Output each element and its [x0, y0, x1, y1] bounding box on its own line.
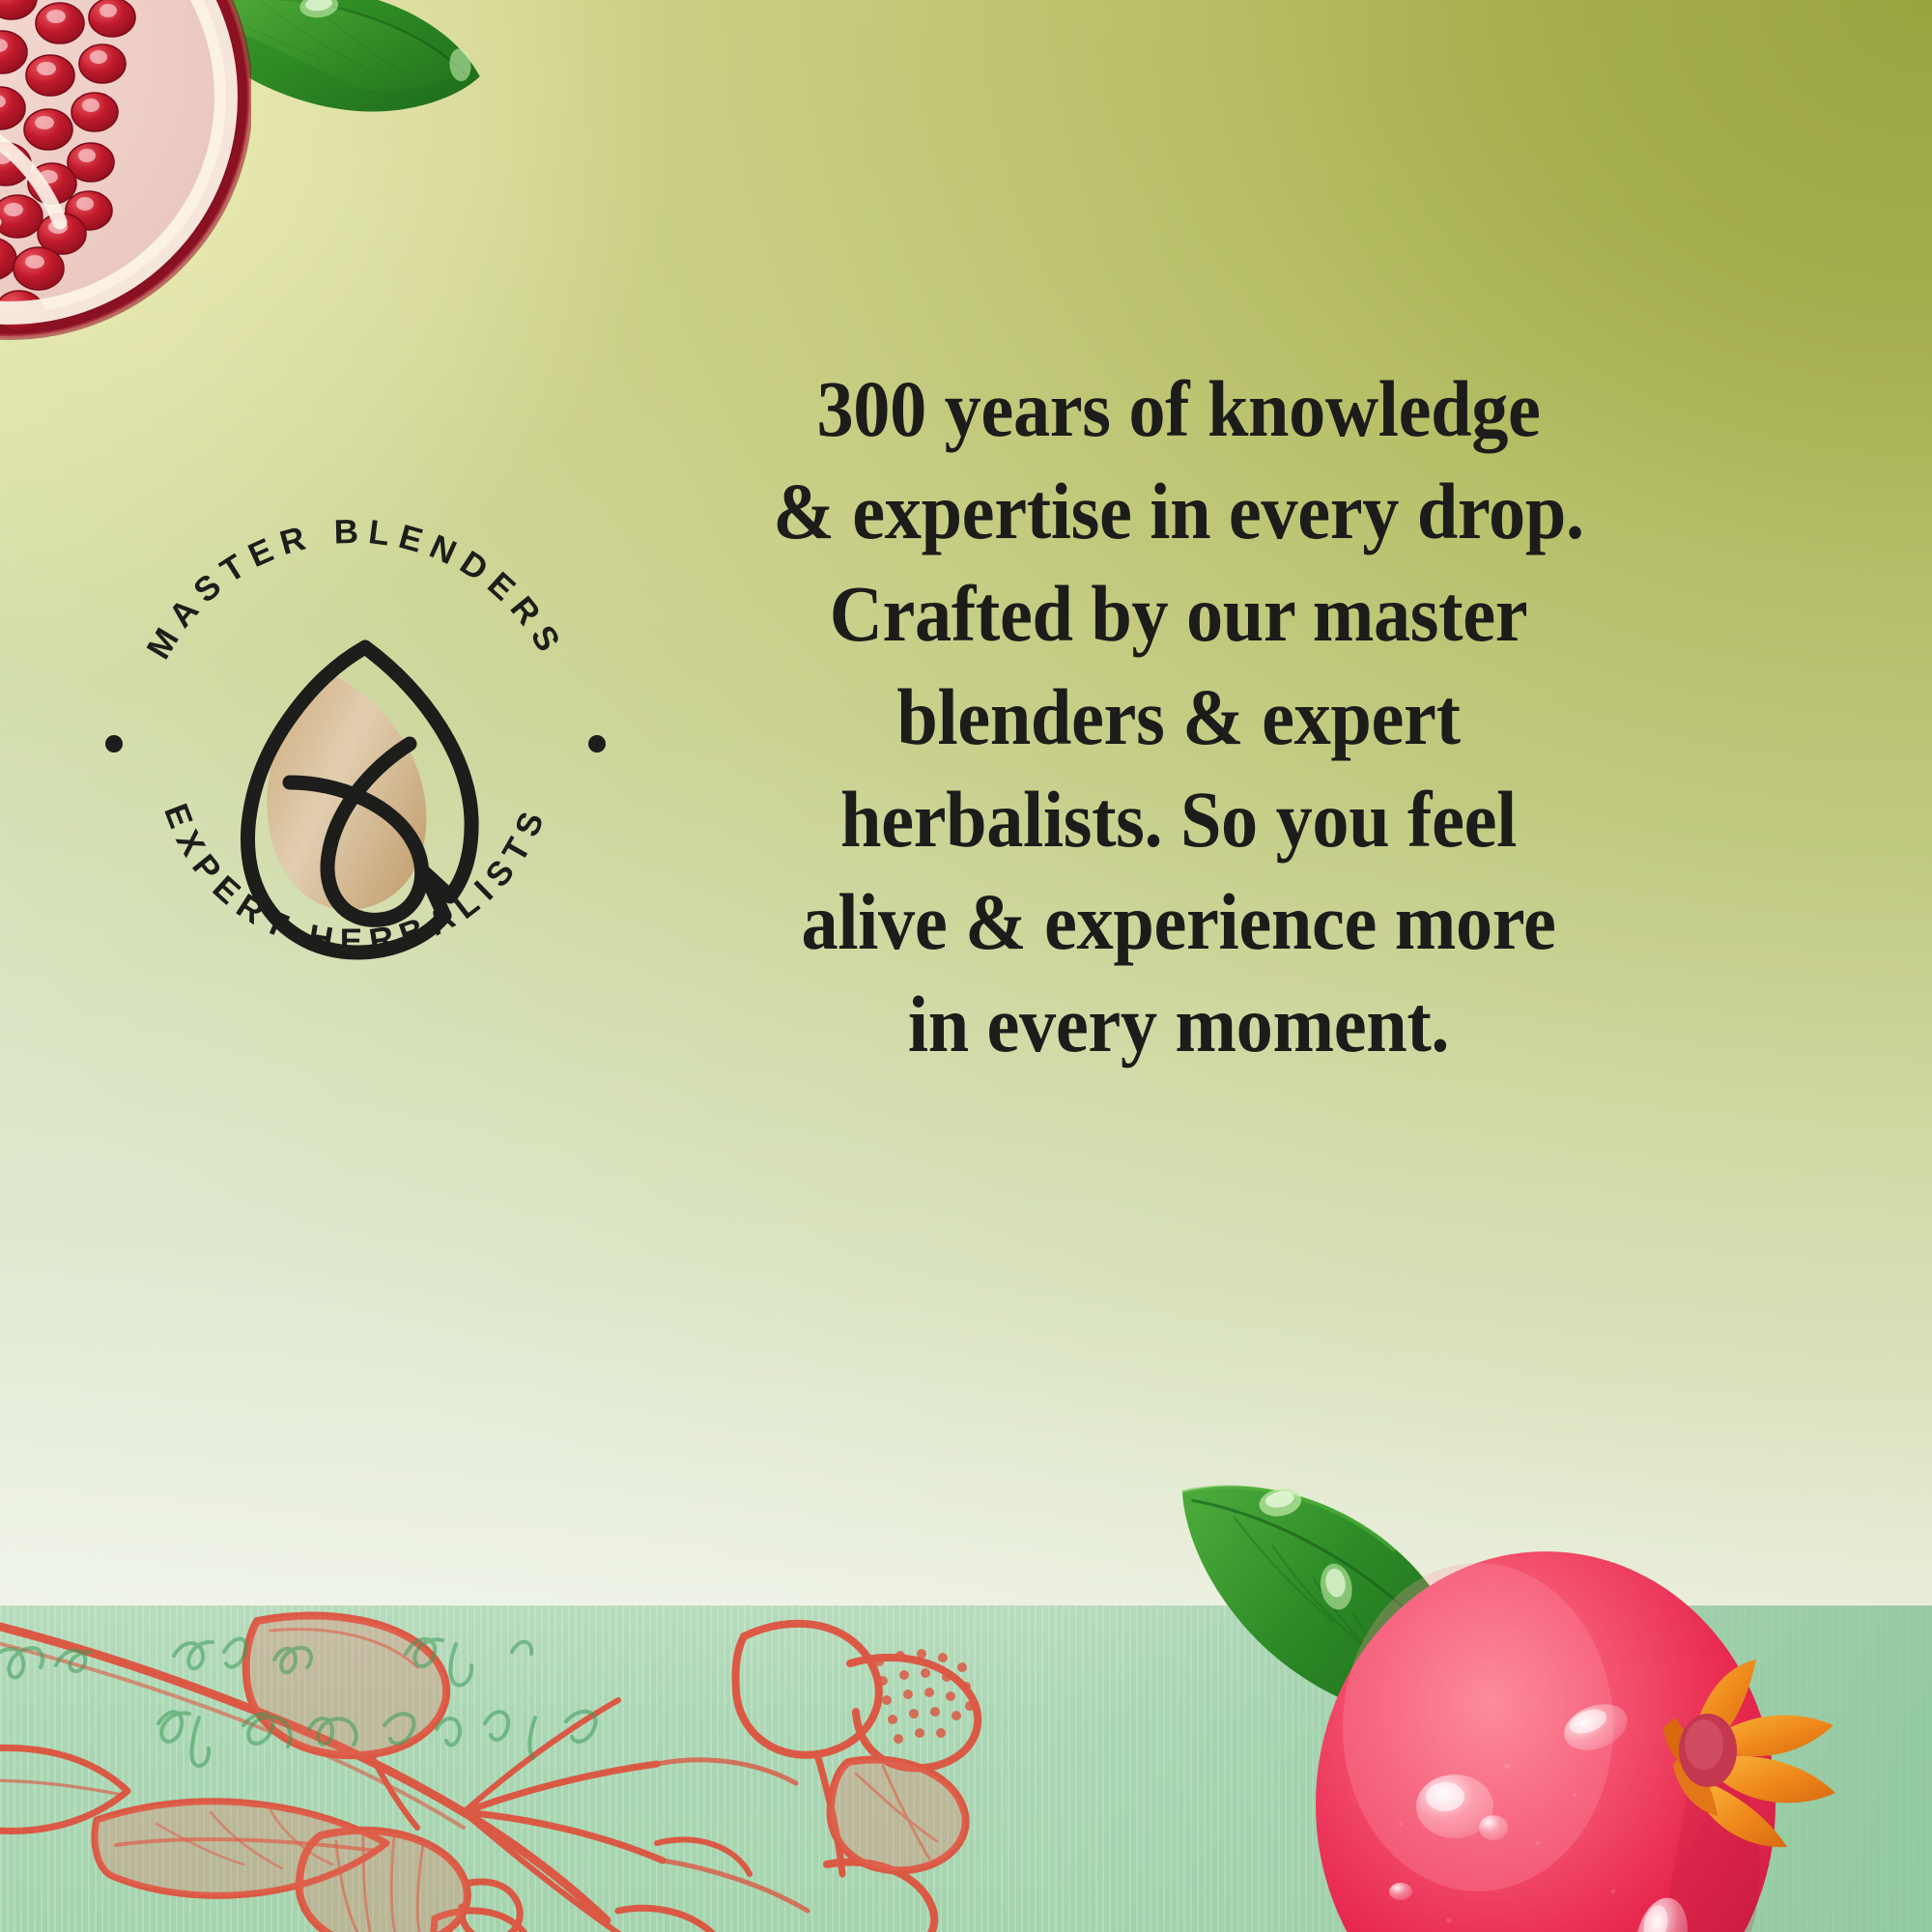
badge-separator-dot-left	[105, 735, 123, 753]
copy-line-6: alive & experience more	[663, 870, 1693, 973]
copy-line-1: 300 years of knowledge	[663, 357, 1693, 460]
badge-top-text: MASTER BLENDERS	[139, 513, 571, 666]
bottom-right-pomegranate	[1159, 1437, 1893, 1932]
copy-line-4: blenders & expert	[663, 666, 1693, 768]
copy-line-3: Crafted by our master	[663, 562, 1693, 665]
badge-separator-dot-right	[588, 735, 606, 753]
top-left-pomegranate-half	[0, 0, 251, 357]
headline-copy: 300 years of knowledge & expertise in ev…	[663, 357, 1693, 1076]
handwritten-script-overlay	[0, 1605, 792, 1779]
copy-line-7: in every moment.	[663, 973, 1693, 1075]
copy-line-2: & expertise in every drop.	[663, 460, 1693, 562]
promo-banner: MASTER BLENDERS EXPERT HERBALISTS 300 ye…	[0, 0, 1932, 1932]
master-blenders-badge: MASTER BLENDERS EXPERT HERBALISTS	[85, 464, 626, 1005]
copy-line-5: herbalists. So you feel	[663, 768, 1693, 870]
